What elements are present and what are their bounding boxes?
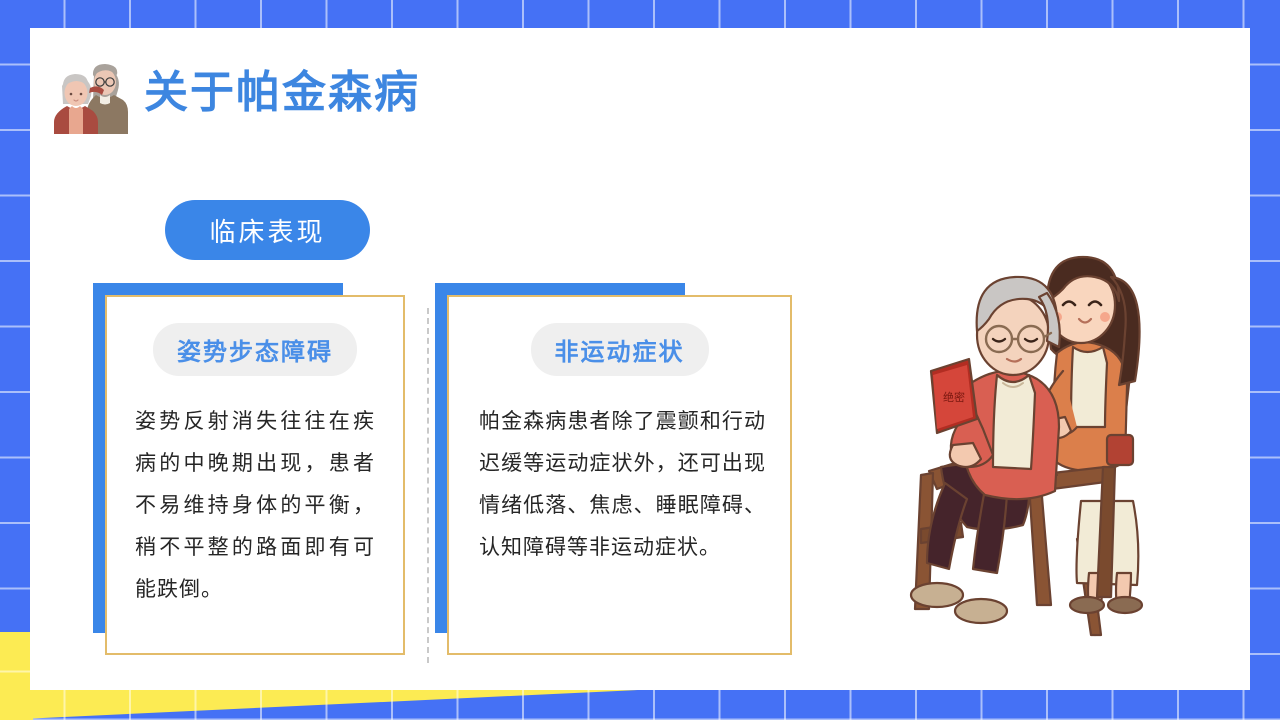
content-panel: 关于帕金森病 临床表现 姿势步态障碍 姿势反射消失往往在疾病的中晚期出现，患者不…	[30, 28, 1250, 690]
elderly-couple-icon	[50, 52, 128, 134]
card-2-body: 帕金森病患者除了震颤和行动迟缓等运动症状外，还可出现情绪低落、焦虑、睡眠障碍、认…	[479, 401, 766, 569]
slide-header: 关于帕金森病	[50, 52, 420, 134]
section-badge[interactable]: 临床表现	[165, 200, 370, 260]
page-title: 关于帕金森病	[144, 71, 420, 115]
card-1-sheet: 姿势步态障碍 姿势反射消失往往在疾病的中晚期出现，患者不易维持身体的平衡，稍不平…	[105, 295, 405, 655]
yellow-accent-left	[0, 632, 33, 720]
card-1-body: 姿势反射消失往往在疾病的中晚期出现，患者不易维持身体的平衡，稍不平整的路面即有可…	[135, 401, 375, 611]
slide-canvas: 关于帕金森病 临床表现 姿势步态障碍 姿势反射消失往往在疾病的中晚期出现，患者不…	[0, 0, 1280, 720]
caregiver-illustration: 绝密	[885, 243, 1195, 643]
card-divider	[427, 308, 429, 663]
section-badge-label: 临床表现	[209, 212, 325, 249]
card-2-sheet: 非运动症状 帕金森病患者除了震颤和行动迟缓等运动症状外，还可出现情绪低落、焦虑、…	[447, 295, 792, 655]
card-1-title: 姿势步态障碍	[153, 323, 357, 376]
card-2-title: 非运动症状	[531, 323, 709, 376]
svg-text:绝密: 绝密	[943, 390, 965, 404]
